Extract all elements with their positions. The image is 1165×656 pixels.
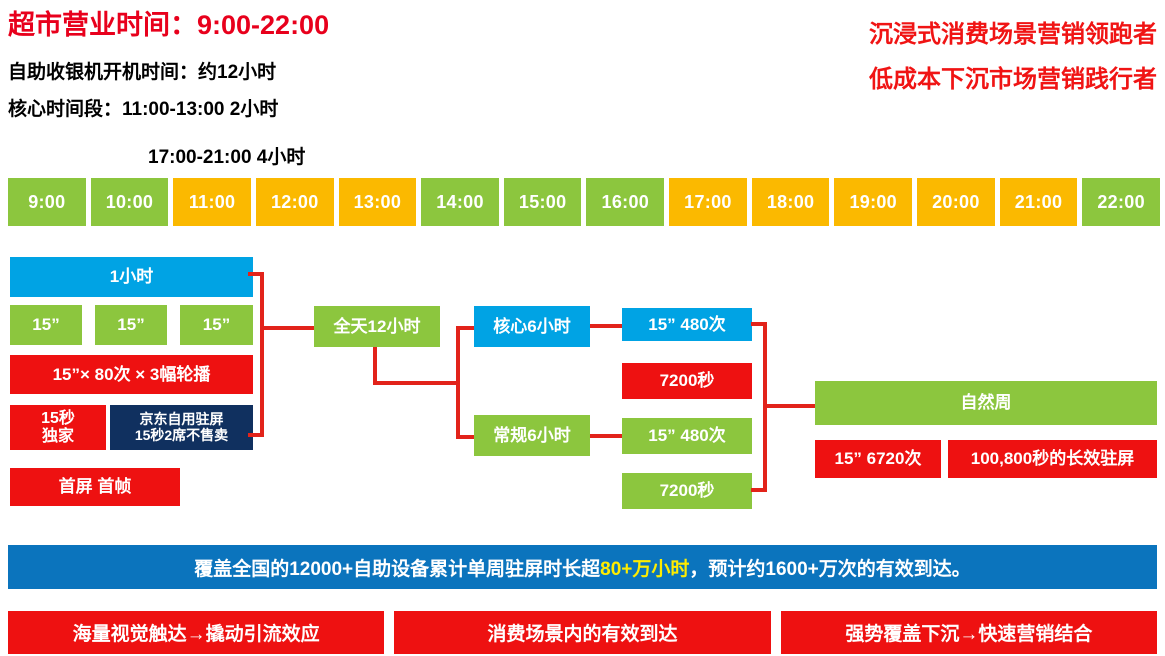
connector-split-to-normal	[456, 435, 474, 439]
connector-left-bracket-top-stub	[248, 272, 264, 276]
rotation-box: 15”× 80次 × 3幅轮播	[10, 355, 253, 394]
hour-chip: 16:00	[586, 178, 664, 226]
hour-block-box: 1小时	[10, 257, 253, 297]
hour-chip: 19:00	[834, 178, 912, 226]
normal-count-box: 15” 480次	[622, 418, 752, 454]
benefit-bar: 消费场景内的有效到达	[394, 611, 770, 654]
core-6h-box: 核心6小时	[474, 306, 590, 347]
benefit-bar: 强势覆盖下沉→快速营销结合	[781, 611, 1157, 654]
core-seconds-box: 7200秒	[622, 363, 752, 399]
hour-chip: 11:00	[173, 178, 251, 226]
hour-chip: 22:00	[1082, 178, 1160, 226]
connector-split-to-core	[456, 326, 474, 330]
benefit-bar: 海量视觉触达→撬动引流效应	[8, 611, 384, 654]
hour-chip: 10:00	[91, 178, 169, 226]
normal-6h-box: 常规6小时	[474, 415, 590, 456]
subtitle-line-3: 17:00-21:00 4小时	[148, 142, 305, 169]
connector-left-bracket-vertical	[260, 272, 264, 437]
slogan-line-2: 低成本下沉市场营销践行者	[869, 59, 1157, 94]
hour-chip: 18:00	[752, 178, 830, 226]
connector-allday-drop	[373, 347, 377, 385]
all-day-box: 全天12小时	[314, 306, 440, 347]
hour-chip: 21:00	[1000, 178, 1078, 226]
subtitle-line-1: 自助收银机开机时间：约12小时	[8, 57, 276, 84]
slot-box-3: 15”	[180, 305, 253, 345]
connector-right-bracket-to-week	[763, 404, 815, 408]
hour-chip: 13:00	[339, 178, 417, 226]
jd-reserved-line-1: 京东自用驻屏	[140, 412, 224, 428]
hour-chip: 14:00	[421, 178, 499, 226]
connector-allday-run	[373, 381, 460, 385]
banner-text-part-1: 覆盖全国的12000+自助设备累计单周驻屏时长超	[194, 554, 600, 581]
week-seconds-box: 100,800秒的长效驻屏	[948, 440, 1157, 478]
connector-core-to-metrics	[590, 324, 622, 328]
connector-right-bracket-bottom-stub	[751, 488, 767, 492]
normal-seconds-box: 7200秒	[622, 473, 752, 509]
banner-text-part-2: ，预计约1600+万次的有效到达。	[689, 554, 970, 581]
first-frame-box: 首屏 首帧	[10, 468, 180, 506]
page-title: 超市营业时间：9:00-22:00	[8, 3, 329, 42]
connector-left-bracket-to-allday	[260, 326, 314, 330]
connector-left-bracket-bottom-stub	[248, 433, 264, 437]
slot-box-1: 15”	[10, 305, 82, 345]
benefit-bar-row: 海量视觉触达→撬动引流效应消费场景内的有效到达强势覆盖下沉→快速营销结合	[8, 611, 1157, 654]
slot-box-2: 15”	[95, 305, 167, 345]
connector-normal-to-metrics	[590, 434, 622, 438]
hour-chip: 20:00	[917, 178, 995, 226]
core-count-box: 15” 480次	[622, 308, 752, 341]
subtitle-line-2: 核心时间段：11:00-13:00 2小时	[8, 94, 278, 121]
connector-split-vertical	[456, 326, 460, 439]
exclusive-line-2: 独家	[42, 428, 74, 446]
hour-chip: 17:00	[669, 178, 747, 226]
hour-chip: 12:00	[256, 178, 334, 226]
jd-reserved-box: 京东自用驻屏 15秒2席不售卖	[110, 405, 253, 450]
hour-timeline: 9:0010:0011:0012:0013:0014:0015:0016:001…	[8, 178, 1160, 226]
week-box: 自然周	[815, 381, 1157, 425]
slogan-line-1: 沉浸式消费场景营销领跑者	[869, 14, 1157, 49]
jd-reserved-line-2: 15秒2席不售卖	[135, 428, 228, 444]
connector-right-bracket-top-stub	[751, 322, 767, 326]
hour-chip: 9:00	[8, 178, 86, 226]
exclusive-box: 15秒 独家	[10, 405, 106, 450]
week-count-box: 15” 6720次	[815, 440, 941, 478]
hour-chip: 15:00	[504, 178, 582, 226]
summary-banner: 覆盖全国的12000+自助设备累计单周驻屏时长超 80+万小时 ，预计约1600…	[8, 545, 1157, 589]
exclusive-line-1: 15秒	[41, 410, 75, 428]
banner-highlight: 80+万小时	[600, 554, 689, 581]
